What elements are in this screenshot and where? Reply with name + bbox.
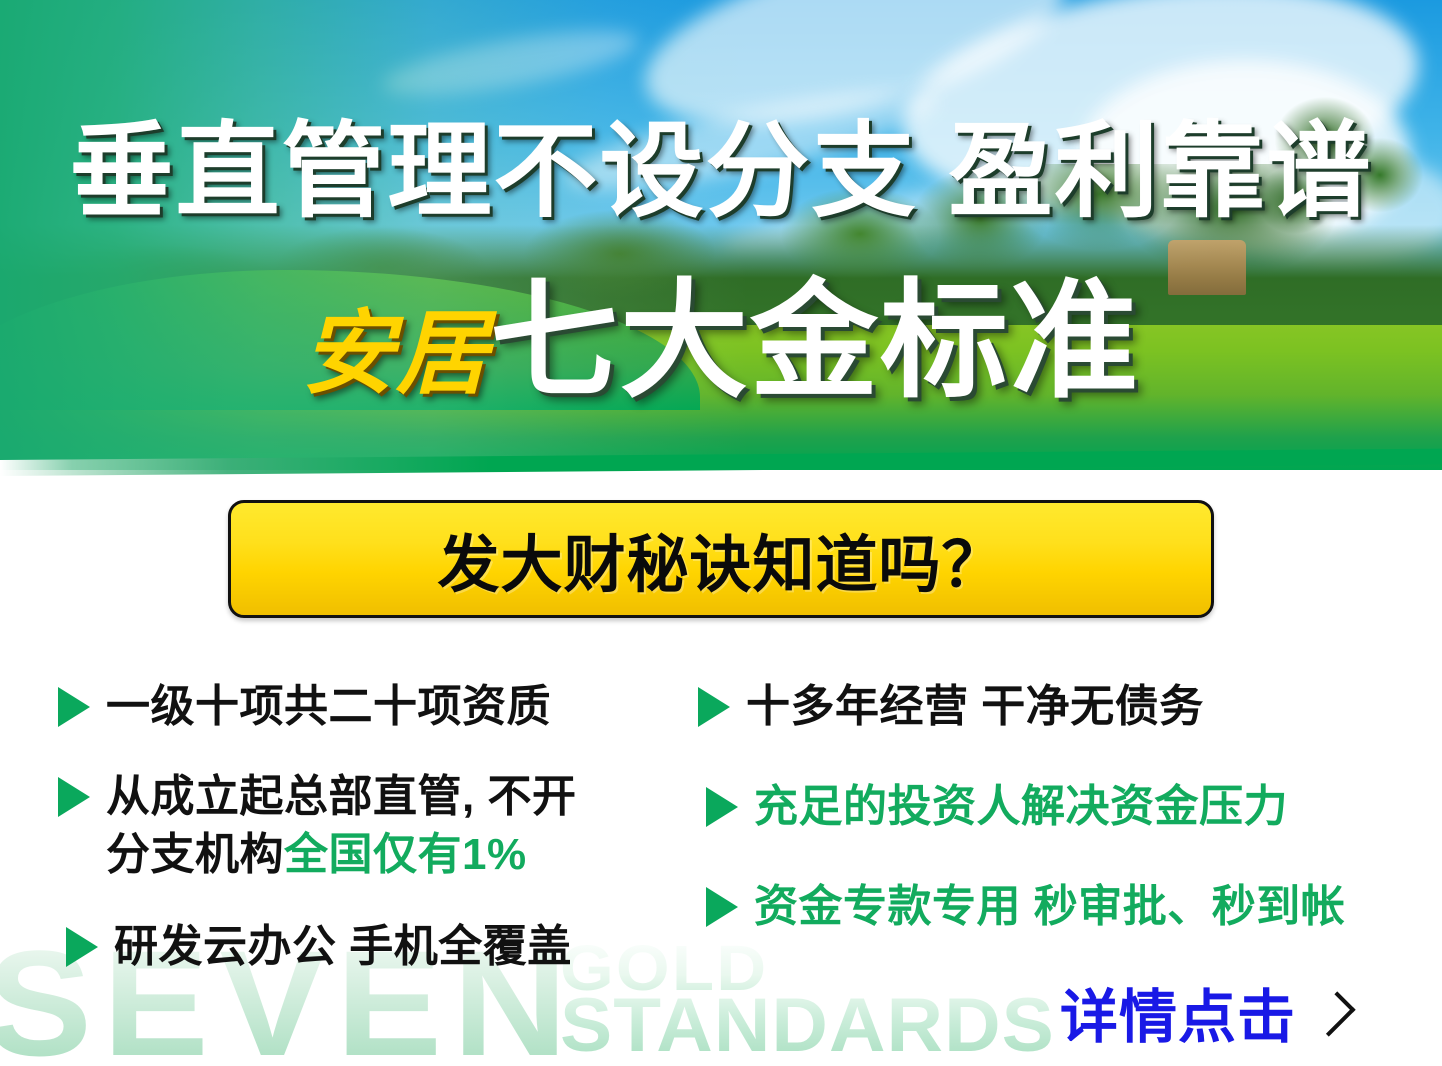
features-section: 一级十项共二十项资质 从成立起总部直管, 不开 分支机构全国仅有1% 研发云办公… [0, 660, 1442, 1000]
feature-text-line: 研发云办公 手机全覆盖 [114, 922, 572, 971]
feature-text: 资金专款专用 秒审批、秒到帐 [754, 878, 1345, 936]
feature-text: 十多年经营 干净无债务 [746, 678, 1204, 736]
triangle-bullet-icon [706, 887, 738, 927]
hero-section: 垂直管理不设分支 盈利靠谱 安居七大金标准 [0, 0, 1442, 470]
feature-item: 从成立起总部直管, 不开 分支机构全国仅有1% [58, 768, 576, 884]
triangle-bullet-icon [66, 927, 98, 967]
triangle-bullet-icon [58, 777, 90, 817]
feature-text: 从成立起总部直管, 不开 分支机构全国仅有1% [106, 768, 576, 884]
feature-text: 充足的投资人解决资金压力 [754, 778, 1288, 836]
hero-headline-big: 七大金标准 [490, 270, 1140, 413]
feature-text: 一级十项共二十项资质 [106, 678, 551, 736]
hero-headline-primary: 垂直管理不设分支 盈利靠谱 [0, 118, 1442, 227]
feature-item: 研发云办公 手机全覆盖 [66, 918, 572, 976]
hero-brand-name: 安居 [302, 303, 490, 405]
triangle-bullet-icon [698, 687, 730, 727]
feature-item: 十多年经营 干净无债务 [698, 678, 1204, 736]
feature-item: 资金专款专用 秒审批、秒到帐 [706, 878, 1345, 936]
feature-text-line: 分支机构 [106, 830, 284, 879]
promo-banner-page: 垂直管理不设分支 盈利靠谱 安居七大金标准 发大财秘诀知道吗？ SEVEN GO… [0, 0, 1442, 1066]
headline-question-text: 发大财秘诀知道吗？ [437, 514, 1004, 604]
chevron-right-icon [1318, 990, 1344, 1034]
feature-text-line: 一级十项共二十项资质 [106, 682, 551, 731]
feature-text-line: 从成立起总部直管, 不开 [106, 772, 576, 821]
triangle-bullet-icon [706, 787, 738, 827]
feature-text: 研发云办公 手机全覆盖 [114, 918, 572, 976]
triangle-bullet-icon [58, 687, 90, 727]
feature-item: 一级十项共二十项资质 [58, 678, 551, 736]
detail-link-label: 详情点击 [1060, 970, 1296, 1054]
detail-link[interactable]: 详情点击 [1060, 970, 1344, 1054]
hero-headline-secondary: 安居七大金标准 [0, 278, 1442, 406]
headline-question-banner[interactable]: 发大财秘诀知道吗？ [228, 500, 1214, 618]
feature-text-highlight: 全国仅有1% [284, 830, 527, 879]
feature-item: 充足的投资人解决资金压力 [706, 778, 1288, 836]
